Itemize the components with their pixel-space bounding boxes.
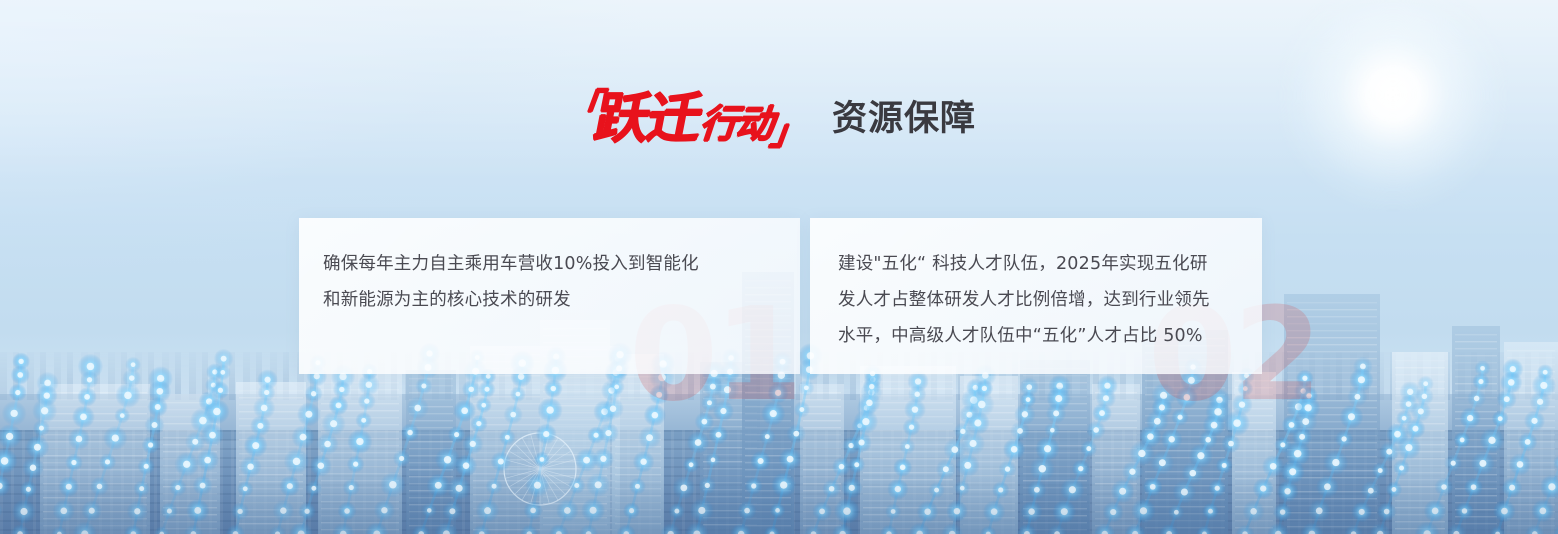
page-title: 资源保障 bbox=[832, 102, 976, 137]
logo-brand-sub: 行动 bbox=[697, 105, 782, 143]
banner-stage: 01 02 「 跃迁 行动 」 资源保障 确保每年主力自主乘用车营收10%投入到… bbox=[0, 0, 1558, 534]
header-row: 「 跃迁 行动 」 资源保障 bbox=[566, 92, 976, 146]
info-card-02: 建设"五化“ 科技人才队伍，2025年实现五化研 发人才占整体研发人才比例倍增，… bbox=[810, 218, 1262, 374]
info-card-01-text: 确保每年主力自主乘用车营收10%投入到智能化 和新能源为主的核心技术的研发 bbox=[323, 246, 784, 318]
logo-brand-main: 跃迁 bbox=[591, 92, 705, 146]
info-card-02-text: 建设"五化“ 科技人才队伍，2025年实现五化研 发人才占整体研发人才比例倍增，… bbox=[838, 246, 1246, 354]
yueqian-action-logo: 「 跃迁 行动 」 bbox=[561, 92, 814, 146]
sun-glare bbox=[1278, 0, 1508, 210]
info-card-01: 确保每年主力自主乘用车营收10%投入到智能化 和新能源为主的核心技术的研发 bbox=[299, 218, 800, 374]
